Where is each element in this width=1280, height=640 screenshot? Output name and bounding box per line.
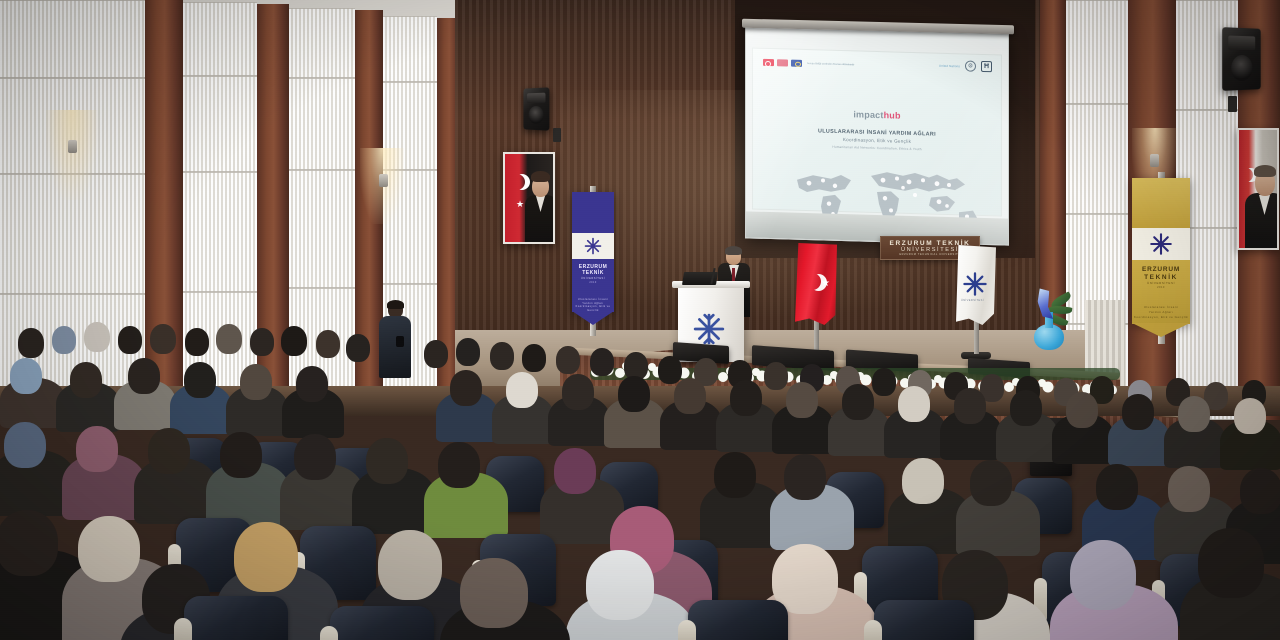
- audience-head: [954, 388, 986, 424]
- audience-head: [1198, 528, 1264, 598]
- portrait-hair: [1254, 165, 1276, 177]
- conference-hall-photo: Avrupa Birliği tarafından finanse edilme…: [0, 0, 1280, 640]
- audience-head: [18, 328, 44, 358]
- audience-head: [438, 442, 480, 488]
- audience-head: [76, 426, 118, 472]
- snowflake-logo-icon: [1149, 232, 1173, 256]
- snowflake-logo-icon: [583, 236, 603, 256]
- audience-head: [250, 328, 274, 356]
- banner-line-1: ERZURUM: [1132, 266, 1190, 274]
- audience-head: [764, 362, 788, 390]
- audience-head: [220, 432, 262, 478]
- audience-head: [240, 364, 272, 400]
- audience-head: [118, 326, 142, 354]
- audience-head: [281, 326, 307, 356]
- wall-panel: [183, 172, 257, 292]
- audience-head: [52, 326, 76, 354]
- audience-head: [1234, 398, 1266, 434]
- partner-mark-icon: Ħ: [981, 61, 992, 72]
- european-union-flag-icon: [791, 60, 802, 67]
- wall-panel: [383, 16, 437, 82]
- audience-head: [70, 362, 102, 398]
- audience-head: [554, 448, 596, 494]
- seat-armrest: [864, 620, 882, 640]
- pa-speaker-right: [1222, 27, 1260, 91]
- audience-head: [1066, 392, 1098, 428]
- audience-head: [1070, 540, 1136, 610]
- banner-line-4: 2010: [1132, 286, 1190, 289]
- audience-head: [78, 516, 140, 582]
- audience-head: [450, 370, 482, 406]
- crescent-icon: [804, 273, 821, 290]
- audience-head: [0, 510, 58, 576]
- un-logo: United Nations: [939, 63, 960, 68]
- portrait-hair: [531, 171, 550, 182]
- slide-brand-left: impact: [853, 109, 883, 120]
- standing-attendee-body: [379, 316, 411, 378]
- audience-head: [128, 358, 160, 394]
- audience-head: [1010, 390, 1042, 426]
- slide-partner-logos: United Nations ⚙ Ħ: [939, 60, 992, 72]
- audience-head: [714, 452, 756, 498]
- slide-funder-flags: Avrupa Birliği tarafından finanse edilme…: [763, 59, 854, 69]
- audience-head: [456, 338, 480, 366]
- crescent-icon: [1239, 168, 1253, 182]
- audience-head: [1240, 468, 1280, 514]
- presenter-hair: [725, 246, 742, 255]
- audience-head: [316, 330, 340, 358]
- audience-head: [184, 362, 216, 398]
- auditorium-seat[interactable]: [688, 600, 788, 640]
- audience-head: [296, 366, 328, 402]
- auditorium-seat[interactable]: [874, 600, 974, 640]
- audience-head: [1096, 464, 1138, 510]
- audience-head: [658, 356, 682, 384]
- audience-head: [562, 374, 594, 410]
- audience-head: [234, 522, 298, 592]
- standing-attendee-hair: [387, 300, 404, 309]
- banner-line-3: ÜNİVERSİTESİ: [572, 277, 614, 280]
- audience-head: [784, 454, 826, 500]
- slide-brand: impacthub: [753, 107, 1001, 124]
- audience-head: [590, 348, 614, 376]
- audience-head: [216, 324, 242, 354]
- speaker-bracket: [1228, 96, 1237, 112]
- audience-head: [674, 378, 706, 414]
- auditorium-audience: [0, 300, 1280, 640]
- sconce-glow: [46, 110, 98, 200]
- crescent-icon: [509, 174, 525, 190]
- banner-top: [1132, 178, 1190, 228]
- wall-panel: [183, 2, 257, 76]
- projection-screen: Avrupa Birliği tarafından finanse edilme…: [745, 26, 1009, 245]
- audience-head: [10, 358, 42, 394]
- banner-emblem-band: [1132, 228, 1190, 260]
- presenter-tie: [732, 268, 735, 282]
- audience-head: [378, 530, 442, 600]
- banner-line-4: 2010: [572, 281, 614, 284]
- banner-left: ERZURUM TEKNİK ÜNİVERSİTESİ 2010 Uluslar…: [572, 192, 614, 312]
- wall-panel: [289, 170, 355, 288]
- audience-head: [294, 434, 336, 480]
- seat-armrest: [678, 620, 696, 640]
- audience-head: [424, 340, 448, 368]
- audience-head: [730, 380, 762, 416]
- audience-head: [506, 372, 538, 408]
- wall-sconce: [68, 140, 77, 153]
- audience-head: [586, 550, 654, 620]
- audience-head: [842, 384, 874, 420]
- funder-caption: Avrupa Birliği tarafından finanse edilme…: [807, 62, 854, 66]
- audience-head: [522, 344, 546, 372]
- turkey-flag-icon: [763, 59, 774, 66]
- wall-sign-line-1: ERZURUM TEKNİK: [890, 240, 971, 247]
- audience-head: [1168, 466, 1210, 512]
- wall-panel: [289, 8, 355, 78]
- wall-panel: [1066, 104, 1128, 214]
- audience-head: [460, 558, 528, 628]
- pa-speaker-left: [523, 87, 549, 130]
- seat-armrest: [320, 626, 338, 640]
- audience-head: [786, 382, 818, 418]
- audience-head: [618, 376, 650, 412]
- audience-head: [902, 458, 944, 504]
- audience-head: [150, 324, 176, 354]
- banner-top: [572, 192, 614, 233]
- partner-flag-icon: [777, 59, 788, 66]
- wall-sconce: [1150, 154, 1159, 167]
- audience-head: [1178, 396, 1210, 432]
- wall-panel: [0, 0, 145, 78]
- audience-head: [898, 386, 930, 422]
- audience-head: [556, 346, 580, 374]
- auditorium-seat[interactable]: [184, 596, 288, 640]
- wall-panel: [183, 76, 257, 172]
- audience-head: [148, 428, 190, 474]
- slide: Avrupa Birliği tarafından finanse edilme…: [752, 48, 1002, 217]
- audience-head: [490, 342, 514, 370]
- audience-head: [872, 368, 896, 396]
- audience-head: [84, 322, 110, 352]
- wall-sconce: [379, 174, 388, 187]
- audience-head: [4, 422, 46, 468]
- president-portrait: [1237, 128, 1279, 250]
- star-icon: ★: [821, 279, 830, 289]
- audience-head: [185, 328, 209, 356]
- gear-icon: ⚙: [965, 60, 976, 71]
- seat-armrest: [174, 618, 192, 640]
- ataturk-portrait: ★: [503, 152, 555, 244]
- star-icon: ★: [516, 200, 524, 209]
- standing-attendee: [378, 302, 412, 380]
- wall-sign-line-3: ERZURUM TECHNICAL UNIVERSITY: [899, 253, 960, 256]
- phone-icon: [396, 336, 404, 347]
- audience-head: [366, 438, 408, 484]
- audience-head: [970, 460, 1012, 506]
- slide-brand-right: hub: [884, 110, 901, 120]
- wall-panel: [1066, 0, 1128, 104]
- wall-panel: [289, 78, 355, 170]
- banner-emblem-band: [572, 233, 614, 259]
- audience-head: [346, 334, 370, 362]
- audience-head: [1122, 394, 1154, 430]
- auditorium-seat[interactable]: [330, 606, 434, 640]
- snowflake-logo-icon: [962, 271, 988, 297]
- speaker-bracket: [553, 128, 561, 142]
